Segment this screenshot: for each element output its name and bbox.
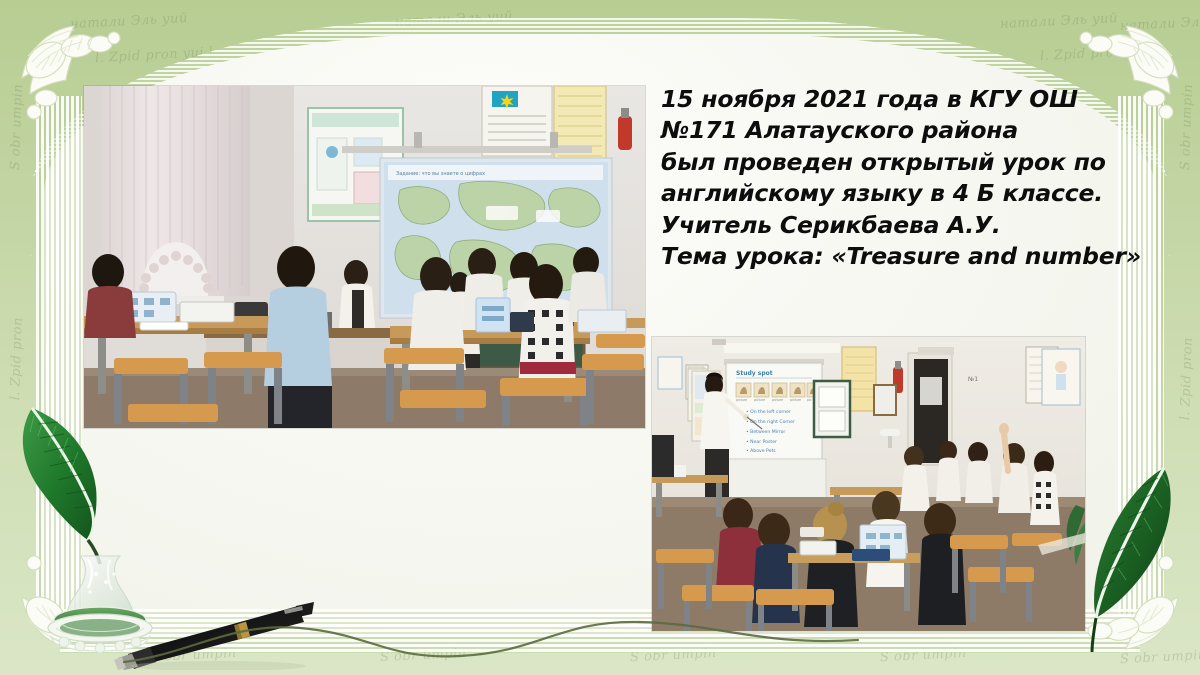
svg-text:№1: №1 (968, 376, 978, 383)
svg-text:• Above Pets: • Above Pets (746, 448, 776, 454)
lesson-description-text: 15 ноября 2021 года в КГУ ОШ №171 Алатау… (661, 84, 1139, 272)
svg-text:picture: picture (754, 398, 765, 402)
photo-classroom-1[interactable]: Задание: что вы знаете о цифрах (84, 86, 645, 428)
lesson-text-line-1: 15 ноября 2021 года в КГУ ОШ (661, 84, 1139, 115)
svg-text:pic: pic (807, 398, 812, 402)
svg-text:• Near Poster: • Near Poster (746, 439, 777, 445)
lesson-text-line-2: №171 Алатауского района (661, 115, 1139, 146)
green-feather-quill-icon (1072, 452, 1192, 667)
svg-text:Study spot: Study spot (736, 370, 773, 377)
svg-text:Задание: что вы знаете о цифра: Задание: что вы знаете о цифрах (396, 171, 485, 177)
lesson-text-line-6: Тема урока: «Treasure and number» (661, 241, 1139, 272)
photo-classroom-2[interactable]: Study spot picturepicture picturepicture… (652, 337, 1085, 631)
presentation-slide: натали Эль уий натали Эль уий натали Эль… (0, 0, 1200, 675)
ink-flourish-line-icon (120, 612, 860, 668)
lesson-text-line-4: английскому языку в 4 Б классе. (661, 178, 1139, 209)
lesson-text-line-3: был проведен открытый урок по (661, 147, 1139, 178)
svg-text:• On the left corner: • On the left corner (746, 409, 791, 415)
svg-text:picture: picture (736, 398, 747, 402)
svg-text:• Between Mirror: • Between Mirror (746, 429, 785, 435)
svg-text:picture: picture (790, 398, 801, 402)
lesson-text-line-5: Учитель Серикбаева А.У. (661, 210, 1139, 241)
svg-text:picture: picture (772, 398, 783, 402)
